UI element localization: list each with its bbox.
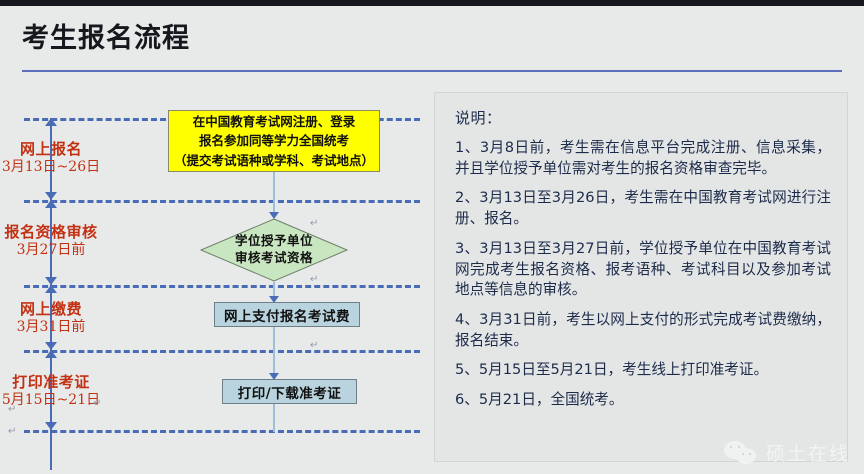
dashed-separator-5 [24, 430, 420, 433]
instruction-item-2: 2、3月13日至3月26日，考生需在中国教育考试网进行注册、报名。 [455, 188, 831, 229]
top-strip [0, 0, 864, 6]
flow-node-register-line3: （提交考试语种或学科、考试地点） [174, 151, 374, 170]
stage-name: 网上报名 [0, 140, 116, 159]
dashed-separator-2 [24, 200, 420, 203]
flow-node-print-label: 打印/下载准考证 [238, 382, 341, 402]
title-divider [22, 70, 842, 72]
pilcrow-mark: ↵ [310, 218, 318, 229]
stage-date: 3月31日前 [0, 319, 116, 337]
axis-arrow-up-2 [45, 200, 57, 208]
axis-arrow-up-1 [45, 118, 57, 126]
dashed-separator-3 [24, 285, 420, 288]
flow-node-register[interactable]: 在中国教育考试网注册、登录 报名参加同等学力全国统考 （提交考试语种或学科、考试… [168, 110, 380, 172]
instructions-heading: 说明： [455, 107, 831, 128]
page-title: 考生报名流程 [22, 16, 190, 55]
axis-arrow-up-4 [45, 350, 57, 358]
flow-node-print[interactable]: 打印/下载准考证 [222, 379, 357, 404]
connector-print-to-exam [273, 404, 275, 432]
wechat-icon [724, 441, 758, 465]
axis-arrow-down-4 [45, 422, 57, 430]
pilcrow-mark: ↵ [8, 426, 16, 437]
flow-node-register-line1: 在中国教育考试网注册、登录 [193, 112, 356, 131]
flow-node-review-line2: 审核考试资格 [235, 250, 313, 267]
watermark-text: 硕土在线 [766, 439, 850, 466]
pilcrow-mark: ↵ [8, 404, 16, 415]
pilcrow-mark: ↵ [310, 274, 318, 285]
stage-date: 3月13日~26日 [0, 159, 116, 177]
watermark: 硕土在线 [724, 439, 850, 466]
flow-diagram: 网上报名 3月13日~26日 报名资格审核 3月27日前 网上缴费 3月31日前… [0, 78, 428, 474]
instruction-item-6: 6、5月21日，全国统考。 [455, 390, 831, 411]
axis-arrow-down-3 [45, 342, 57, 350]
connector-pay-to-print [273, 327, 275, 379]
stage-label-online-payment: 网上缴费 3月31日前 [0, 300, 116, 336]
flow-node-review[interactable]: 学位授予单位 审核考试资格 [200, 218, 348, 282]
instruction-item-5: 5、5月15日至5月21日，考生线上打印准考证。 [455, 360, 831, 381]
stage-name: 网上缴费 [0, 300, 116, 319]
flow-node-review-line1: 学位授予单位 [235, 233, 313, 250]
instruction-item-3: 3、3月13日至3月27日前，学位授予单位在中国教育考试网完成考生报名资格、报考… [455, 239, 831, 301]
dashed-separator-4 [24, 350, 420, 353]
flow-node-pay[interactable]: 网上支付报名考试费 [214, 302, 360, 327]
pilcrow-mark: ↵ [93, 398, 101, 409]
stage-label-qualification-review: 报名资格审核 3月27日前 [0, 223, 116, 259]
stage-date: 3月27日前 [0, 242, 116, 260]
flow-node-pay-label: 网上支付报名考试费 [224, 305, 350, 325]
instruction-item-4: 4、3月31日前，考生以网上支付的形式完成考试费缴纳，报名结束。 [455, 310, 831, 351]
pilcrow-mark: ↵ [310, 340, 318, 351]
instruction-item-1: 1、3月8日前，考生需在信息平台完成注册、信息采集，并且学位授予单位需对考生的报… [455, 138, 831, 179]
stage-name: 报名资格审核 [0, 223, 116, 242]
flow-node-register-line2: 报名参加同等学力全国统考 [199, 131, 349, 150]
connector-register-to-review [273, 172, 275, 216]
axis-arrow-down-2 [45, 277, 57, 285]
stage-name: 打印准考证 [0, 373, 116, 392]
instructions-panel: 说明： 1、3月8日前，考生需在信息平台完成注册、信息采集，并且学位授予单位需对… [434, 92, 848, 462]
axis-arrow-down-1 [45, 192, 57, 200]
axis-arrow-up-3 [45, 285, 57, 293]
stage-label-online-registration: 网上报名 3月13日~26日 [0, 140, 116, 176]
